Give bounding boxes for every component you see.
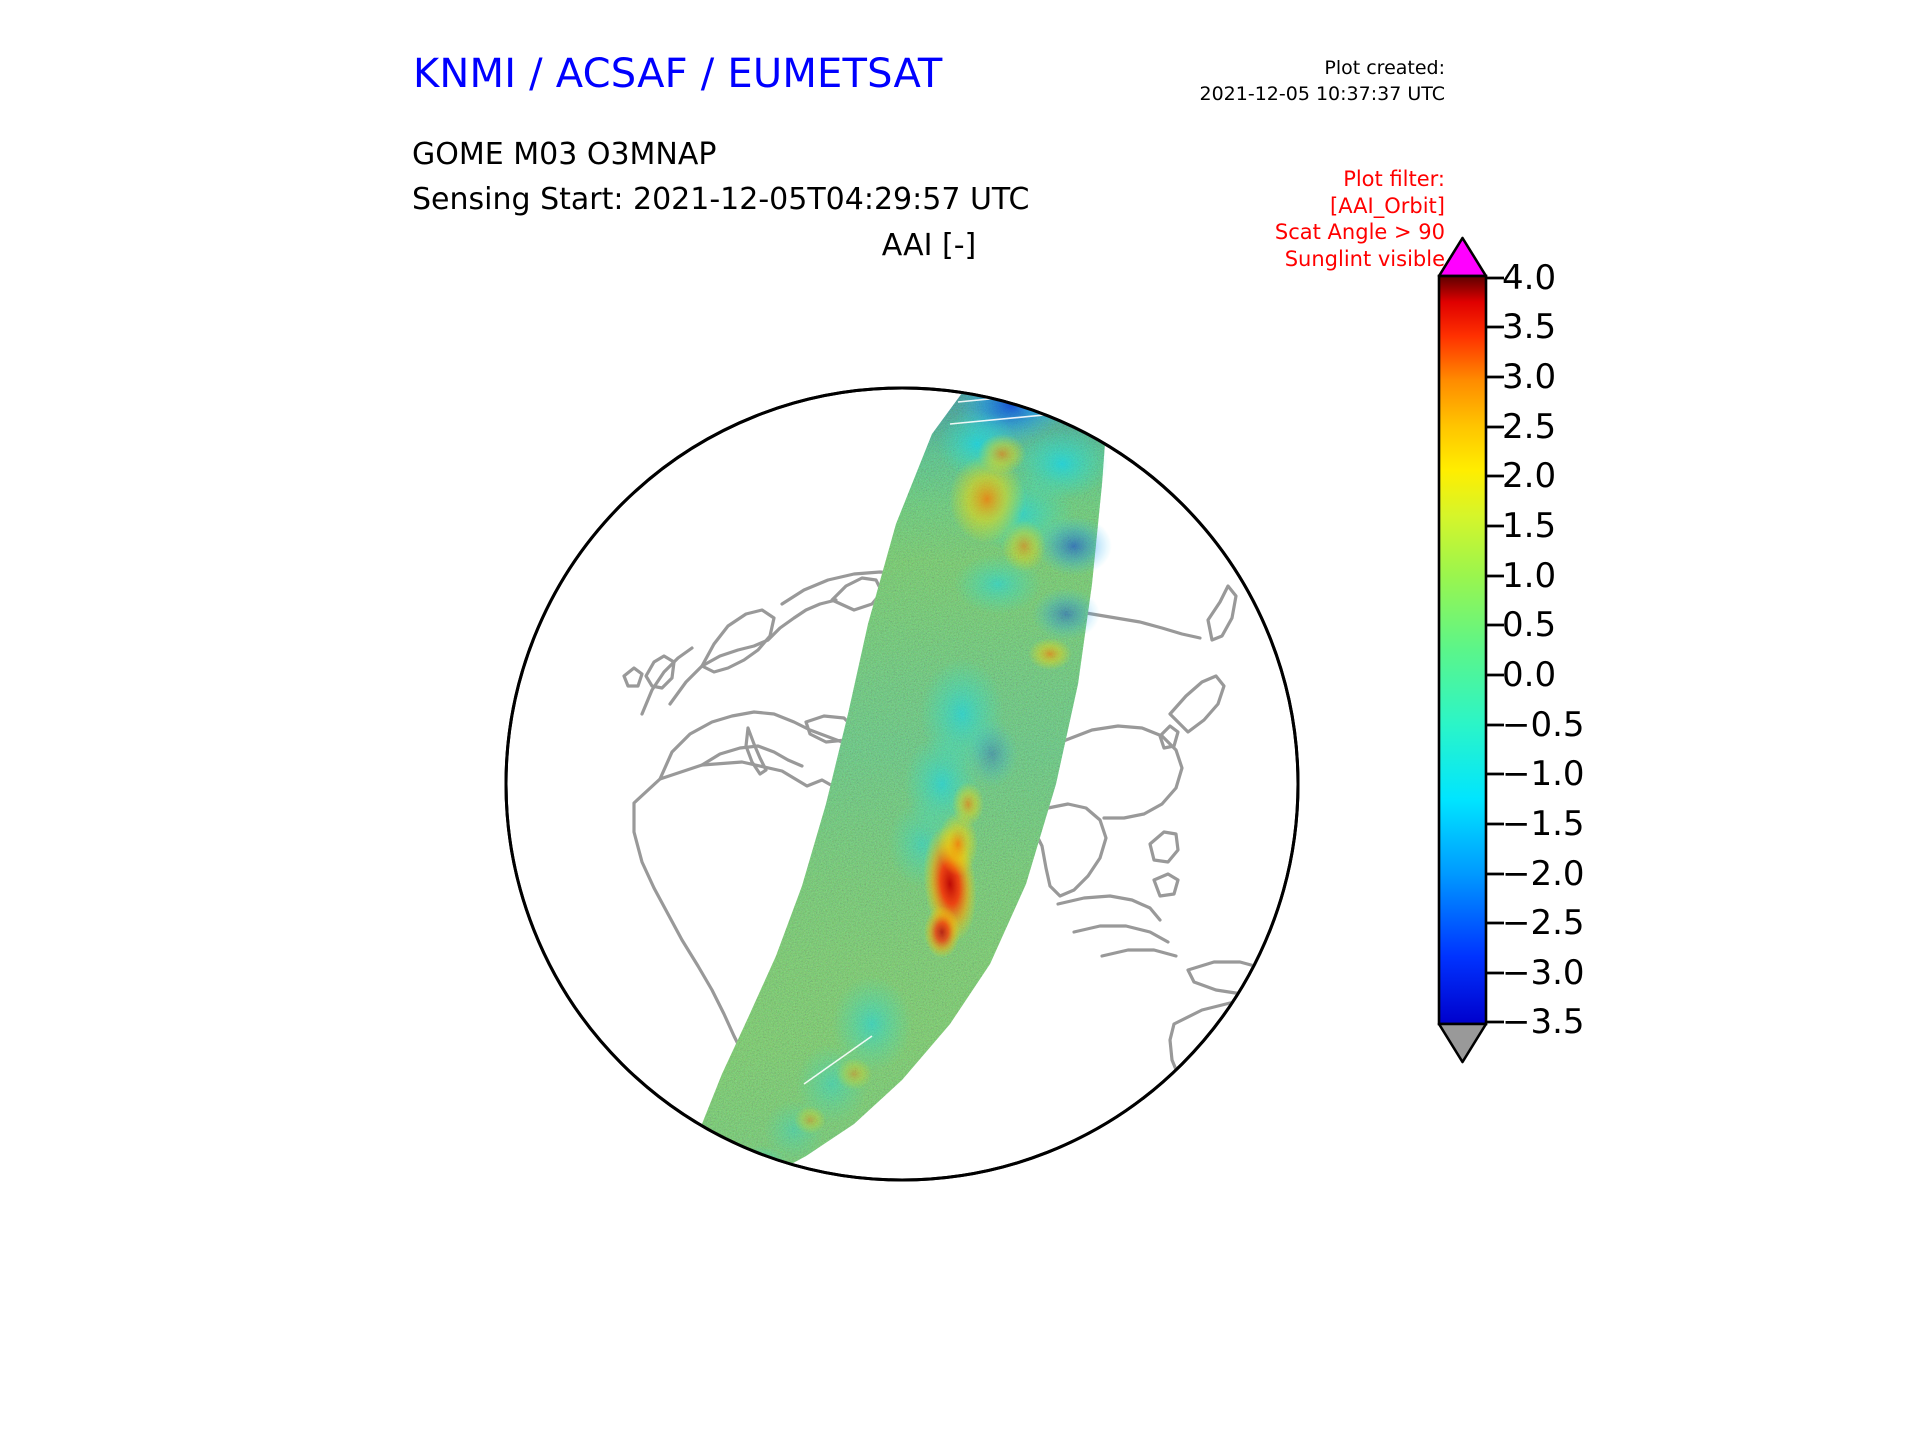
- colorbar-over-arrow: [1439, 238, 1486, 276]
- colorbar-under-arrow: [1439, 1024, 1486, 1062]
- plot-filter-variable: [AAI_Orbit]: [1120, 193, 1445, 220]
- colorbar-tick-11: −1.5: [1502, 807, 1585, 841]
- colorbar-tick-10: −1.0: [1502, 757, 1585, 791]
- colorbar-tick-0: 4.0: [1502, 261, 1556, 295]
- sensing-start: Sensing Start: 2021-12-05T04:29:57 UTC: [412, 182, 1029, 217]
- colorbar-tick-2: 3.0: [1502, 360, 1556, 394]
- colorbar-tick-6: 1.0: [1502, 559, 1556, 593]
- colorbar-tick-14: −3.0: [1502, 956, 1585, 990]
- colorbar-tick-7: 0.5: [1502, 608, 1556, 642]
- globe-svg: [402, 284, 1402, 1284]
- colorbar-tick-1: 3.5: [1502, 310, 1556, 344]
- colorbar-tick-labels: 4.0 3.5 3.0 2.5 2.0 1.5 1.0 0.5 0.0 −0.5…: [1502, 232, 1702, 1072]
- plot-filter-label: Plot filter:: [1120, 166, 1445, 193]
- plot-filter-scat-angle: Scat Angle > 90: [1120, 219, 1445, 246]
- colorbar-tick-9: −0.5: [1502, 708, 1585, 742]
- swath-blue-south: [674, 1146, 788, 1202]
- plot-created-timestamp: 2021-12-05 10:37:37 UTC: [1095, 83, 1445, 105]
- plot-created-label: Plot created:: [1165, 57, 1445, 79]
- colorbar: 4.0 3.5 3.0 2.5 2.0 1.5 1.0 0.5 0.0 −0.5…: [1430, 232, 1860, 1072]
- plot-page: KNMI / ACSAF / EUMETSAT Plot created: 20…: [0, 0, 1920, 1440]
- colorbar-tick-3: 2.5: [1502, 410, 1556, 444]
- colorbar-tick-12: −2.0: [1502, 857, 1585, 891]
- colorbar-gradient: [1439, 276, 1486, 1024]
- colorbar-tick-15: −3.5: [1502, 1005, 1585, 1039]
- plot-filter-sunglint: Sunglint visible: [1120, 246, 1445, 273]
- colorbar-tick-13: −2.5: [1502, 906, 1585, 940]
- plot-filter-block: Plot filter: [AAI_Orbit] Scat Angle > 90…: [1120, 166, 1445, 272]
- organization-title: KNMI / ACSAF / EUMETSAT: [413, 51, 943, 97]
- product-name: GOME M03 O3MNAP: [412, 137, 716, 172]
- colorbar-tick-4: 2.0: [1502, 459, 1556, 493]
- colorbar-tick-8: 0.0: [1502, 658, 1556, 692]
- colorbar-tick-5: 1.5: [1502, 509, 1556, 543]
- globe-map: [402, 284, 1402, 1284]
